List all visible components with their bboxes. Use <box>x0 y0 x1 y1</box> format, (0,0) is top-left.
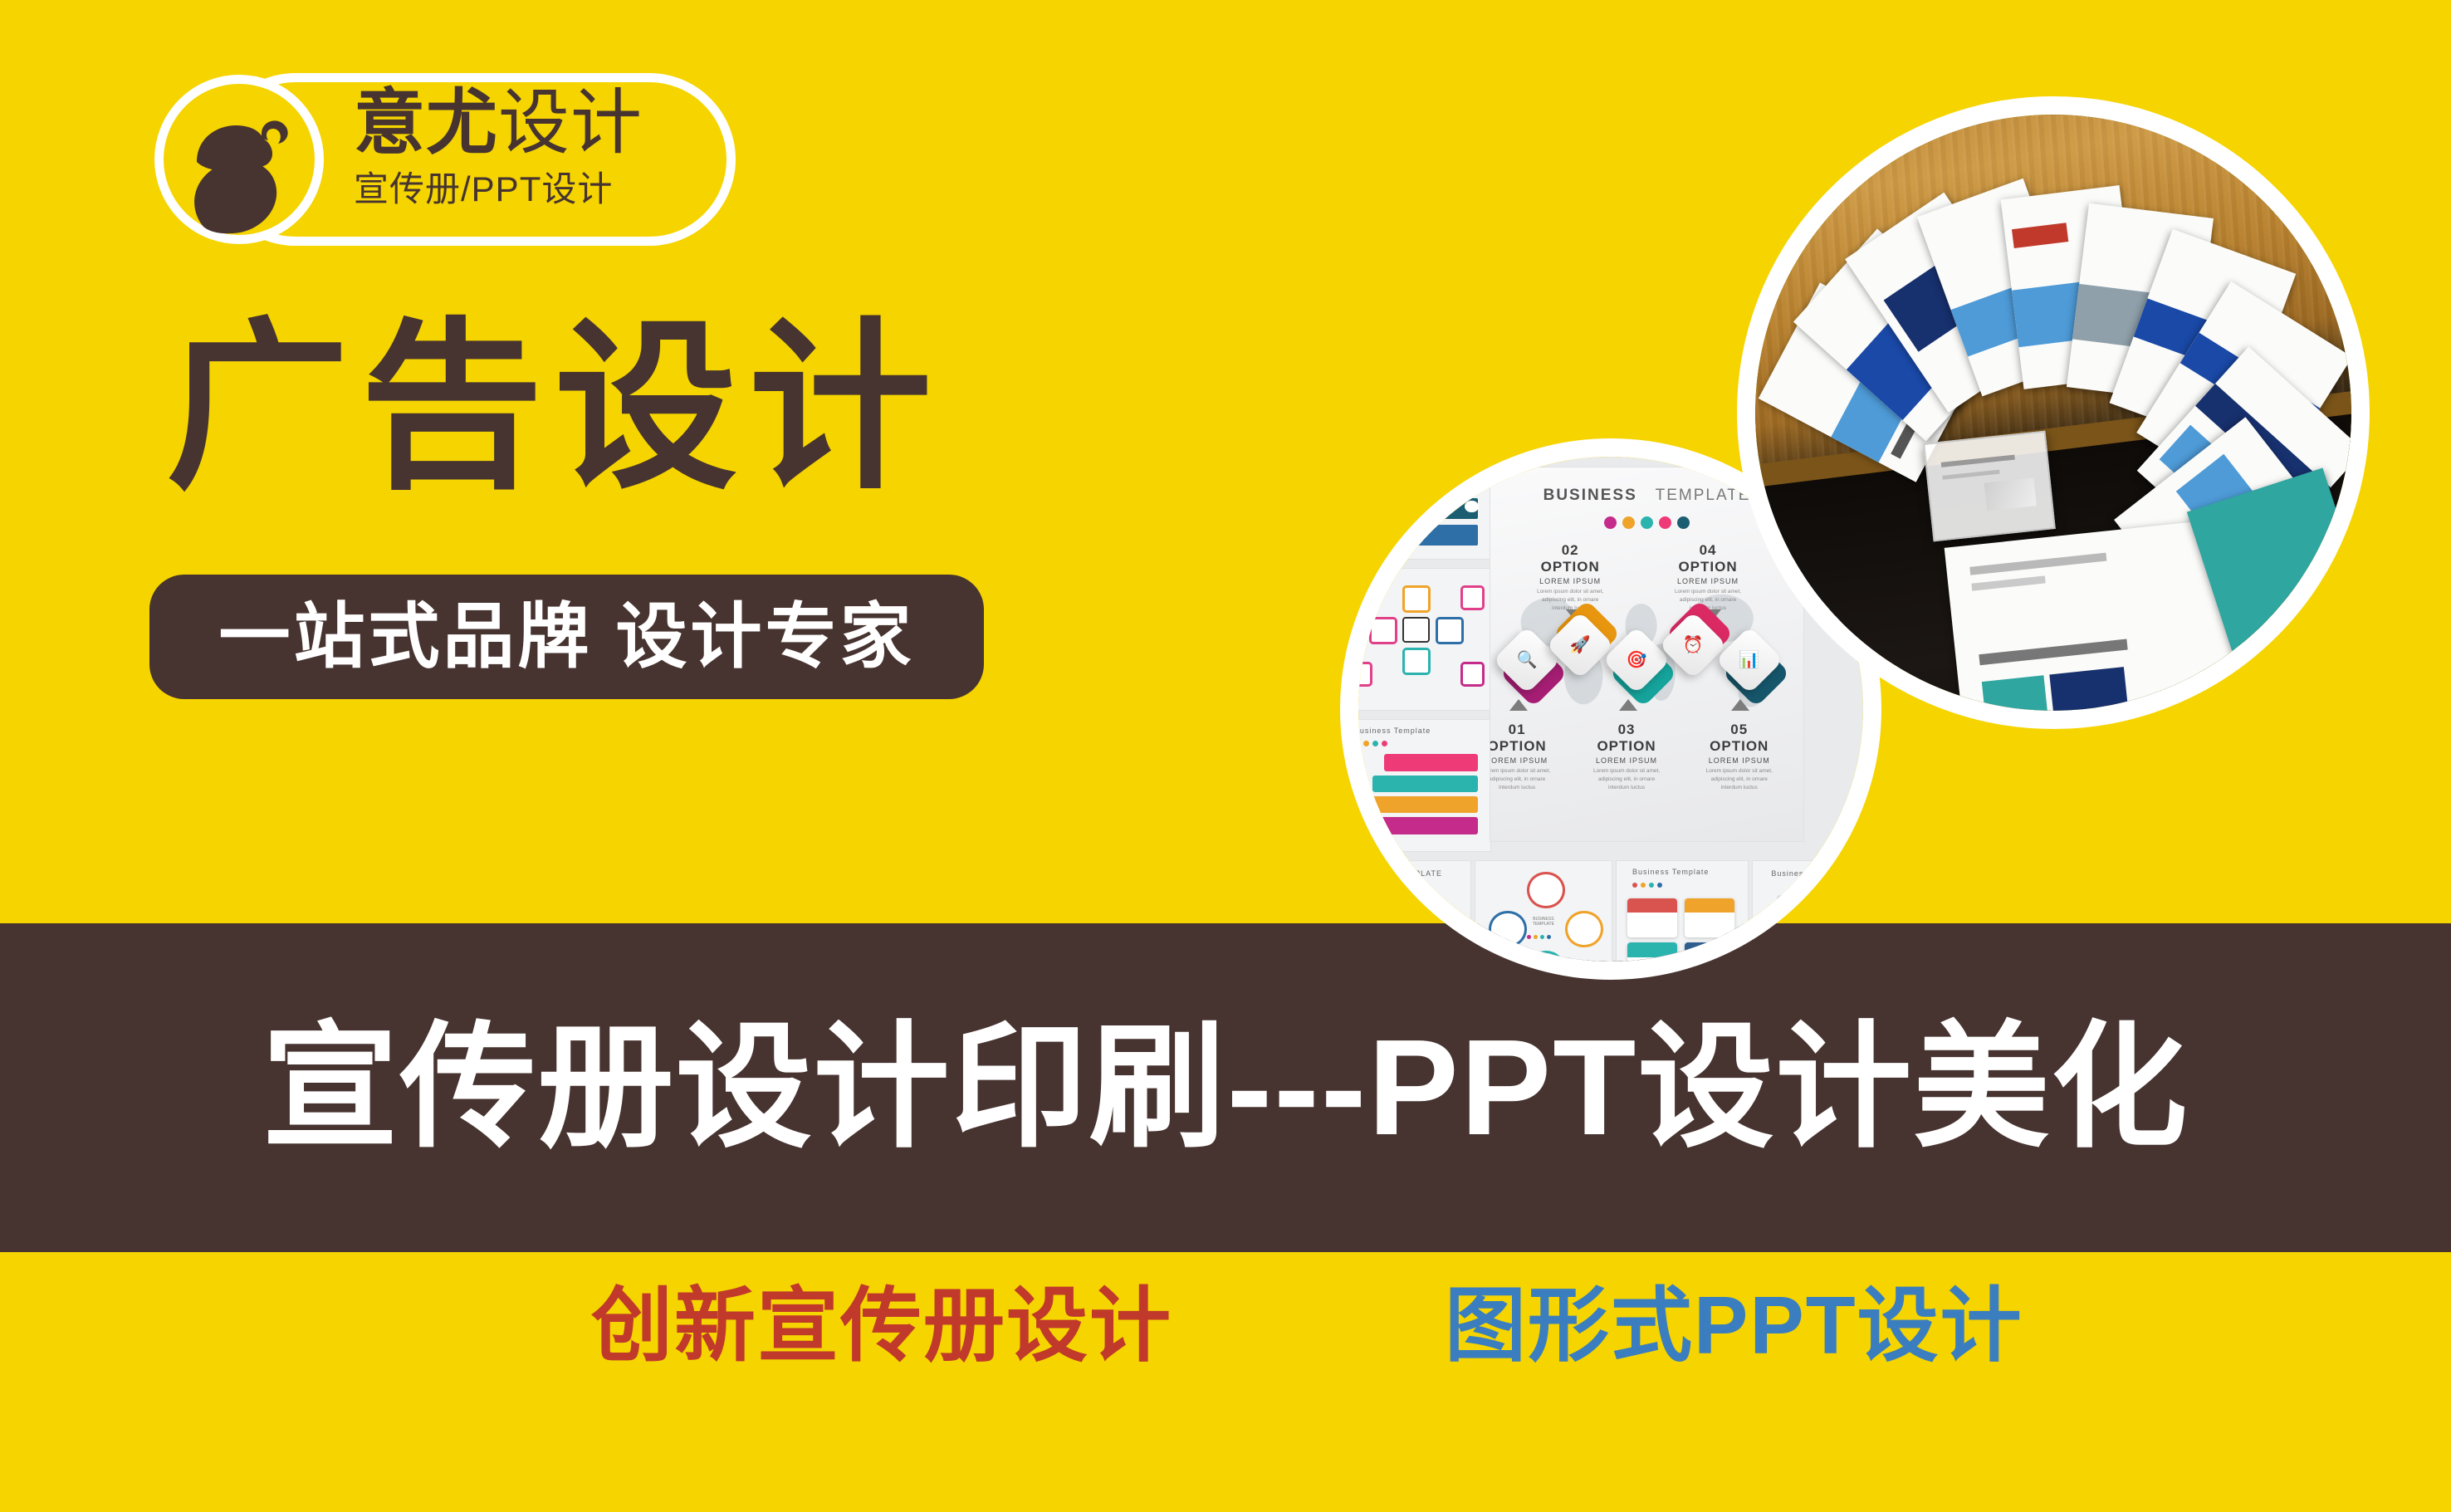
ppt-option-05: 05 OPTION LOREM IPSUM Lorem ipsum dolor … <box>1703 722 1775 792</box>
thumbnail-map-template: Business 06 <box>1752 860 1863 962</box>
page-title: 广告设计 <box>166 304 943 511</box>
tagline-pill: 一站式品牌 设计专家 <box>149 575 984 699</box>
logo-circle <box>154 75 324 244</box>
tagline-text: 一站式品牌 设计专家 <box>219 597 915 677</box>
arrow-up-icon <box>1619 699 1637 711</box>
business-card-holder <box>1923 430 2055 541</box>
ppt-option-01: 01 OPTION LOREM IPSUM Lorem ipsum dolor … <box>1490 722 1553 792</box>
band-headline-text: 宣传册设计印刷---PPT设计美化 <box>262 1005 2189 1171</box>
ppt-step-02: 🚀 <box>1556 621 1614 679</box>
rocket-icon: 🚀 <box>1568 633 1592 658</box>
footer-labels: 创新宣传册设计 图形式PPT设计 <box>0 1275 2451 1425</box>
promotional-banner: 意尤设计 宣传册/PPT设计 广告设计 一站式品牌 设计专家 宣传册设计印刷--… <box>0 0 2451 1512</box>
logo-title-light: 设计 <box>498 83 643 163</box>
logo-title-bold: 意尤 <box>354 83 498 163</box>
ppt-option-02: 02 OPTION LOREM IPSUM Lorem ipsum dolor … <box>1534 542 1607 613</box>
thumbnail-map-option-template: BUSINESS TEMPLATE 04 OPTION <box>1358 860 1471 962</box>
thumbnail-hexagon-cycle-template: BUSINESSTEMPLATE <box>1475 860 1612 962</box>
ppt-step-04: ⏰ <box>1669 621 1727 679</box>
thumbnail-step-cards-template: Business Template <box>1616 860 1749 962</box>
logo-subtitle: 宣传册/PPT设计 <box>354 166 711 213</box>
brand-logo: 意尤设计 宣传册/PPT设计 <box>154 73 736 246</box>
arrow-up-icon <box>1509 699 1528 711</box>
thumbnail-pyramid-template: Business Template <box>1358 719 1491 852</box>
alarm-clock-icon: ⏰ <box>1680 633 1705 658</box>
target-icon: 🎯 <box>1624 648 1649 673</box>
logo-text: 意尤设计 宣传册/PPT设计 <box>354 80 711 213</box>
logo-title: 意尤设计 <box>354 80 711 166</box>
brochure-scene: S <box>1755 115 2351 711</box>
ppt-option-03: 03 OPTION LOREM IPSUM Lorem ipsum dolor … <box>1591 722 1663 792</box>
footer-label-ppt: 图形式PPT设计 <box>1445 1275 2023 1375</box>
arrow-up-icon <box>1731 699 1749 711</box>
brochure-photo-image: S <box>1755 115 2351 711</box>
ppt-option-04: 04 OPTION LOREM IPSUM Lorem ipsum dolor … <box>1672 542 1744 613</box>
brochure-photo-circle: S <box>1737 96 2370 729</box>
footer-label-brochure: 创新宣传册设计 <box>591 1275 1172 1375</box>
thumbnail-ribbon-template <box>1358 457 1491 560</box>
magnifier-icon: 🔍 <box>1514 648 1539 673</box>
thumbnail-cross-grid-template <box>1358 568 1491 711</box>
bird-leaf-mark-icon <box>182 102 315 235</box>
band-headline: 宣传册设计印刷---PPT设计美化 <box>0 923 2451 1252</box>
